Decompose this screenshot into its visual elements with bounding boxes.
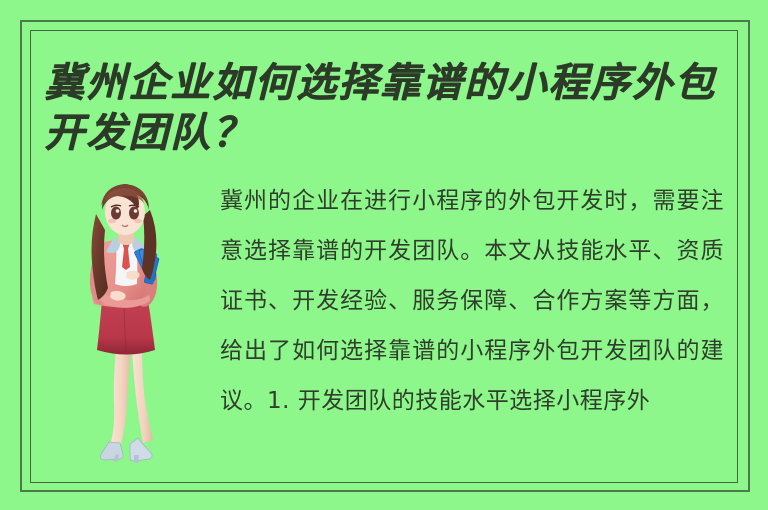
body-paragraph: 冀州的企业在进行小程序的外包开发时，需要注意选择靠谱的开发团队。本文从技能水平、… — [220, 176, 724, 426]
page-title: 冀州企业如何选择靠谱的小程序外包开发团队？ — [44, 58, 734, 158]
legs — [111, 348, 153, 444]
blush-right — [134, 219, 142, 223]
blush-left — [108, 219, 116, 223]
anime-girl-illustration — [74, 180, 179, 476]
poster-canvas: 冀州企业如何选择靠谱的小程序外包开发团队？ — [0, 0, 768, 510]
